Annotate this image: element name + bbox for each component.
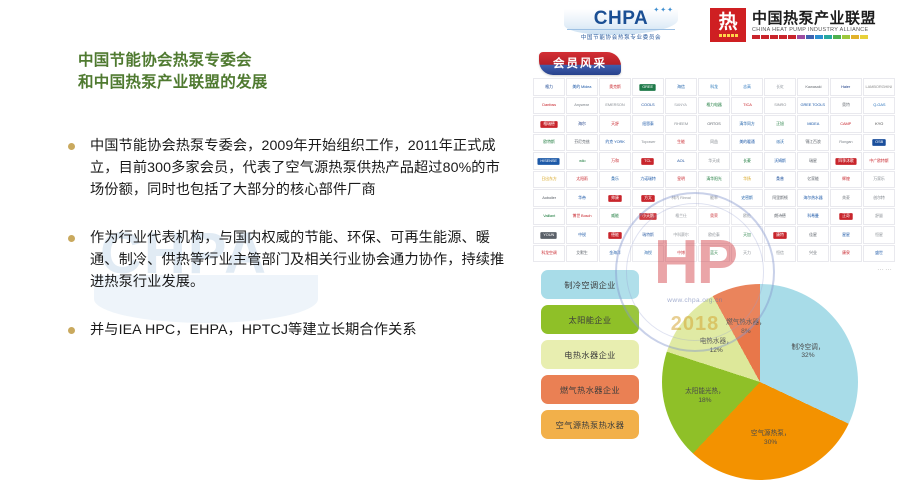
member-logo-cell: 瑞星	[797, 152, 829, 170]
member-logo-cell: 正奇	[830, 208, 862, 226]
member-logo-cell: 力诺瑞特	[632, 171, 664, 189]
alliance-text-block: 中国热泵产业联盟 CHINA HEAT PUMP INDUSTRY ALLIAN…	[752, 11, 876, 40]
member-logo-cell: 长虹	[764, 78, 796, 96]
list-item: 作为行业代表机构，与国内权威的节能、环保、可再生能源、暖通、制冷、供热等行业主管…	[66, 227, 506, 293]
member-logo-cell: TICA	[731, 97, 763, 115]
member-logo-cell: 瑞特斯	[632, 226, 664, 244]
pie-slice-name: 电热水器，	[690, 338, 742, 347]
member-logo-cell: 天加	[731, 226, 763, 244]
member-logo-cell: 亿家能	[797, 171, 829, 189]
member-logo-label: 海信	[677, 85, 685, 89]
member-logo-label: 恒星	[875, 233, 883, 237]
member-logo-label: 日出东方	[541, 177, 556, 181]
member-logo-cell: 万和	[599, 152, 631, 170]
member-logo-label: 盛世	[875, 251, 883, 255]
pie-slice-name: 太阳能光热，	[679, 388, 731, 397]
member-logo-label: 阿里斯顿	[772, 196, 787, 200]
pie-slice-label: 太阳能光热，18%	[679, 388, 731, 406]
member-logo-cell: RHEEM	[665, 115, 697, 133]
member-logo-cell: 四季沐歌	[830, 152, 862, 170]
member-logo-label: 同益	[710, 140, 718, 144]
member-logo-label: SINRO	[774, 103, 786, 107]
member-logo-cell: 舒量	[863, 208, 895, 226]
legend-item-label: 空气源热泵热水器	[556, 419, 625, 431]
pie-slice-value: 30%	[745, 439, 797, 448]
member-logo-cell: 艾默生	[566, 245, 598, 263]
legend-item-label: 太阳能企业	[569, 314, 612, 326]
member-logo-label: 海尔	[578, 122, 586, 126]
member-logo-label: 创尔特	[873, 196, 885, 200]
member-logo-cell: 海信	[665, 78, 697, 96]
member-logo-label: 辉煌	[842, 177, 850, 181]
member-logo-label: Vaillant	[543, 214, 555, 218]
member-logo-cell: 中锐	[566, 226, 598, 244]
member-logo-label: 天力	[743, 251, 751, 255]
member-logo-label: 纽恩泰	[642, 122, 654, 126]
legend-item: 空气源热泵热水器	[541, 410, 639, 439]
member-logo-cell: Anywear	[566, 97, 598, 115]
chpa-stars-icon: ✦✦✦	[653, 6, 674, 14]
member-logo-cell: EMERSON	[599, 97, 631, 115]
list-item: 中国节能协会热泵专委会，2009年开始组织工作，2011年正式成立，目前300多…	[66, 135, 506, 201]
member-logo-label: YOUN	[541, 232, 558, 238]
member-logo-cell: 日出东方	[533, 171, 565, 189]
member-logo-cell: 桑普	[764, 171, 796, 189]
member-logo-label: 芬尼克兹	[574, 140, 589, 144]
bullet-list: 中国节能协会热泵专委会，2009年开始组织工作，2011年正式成立，目前300多…	[66, 135, 506, 341]
member-logo-label: 锦江百浪	[805, 140, 820, 144]
member-logo-label: 格瑞德	[540, 121, 557, 127]
member-logo-cell: Aoboiler	[533, 189, 565, 207]
member-logo-cell: 欧伦	[731, 208, 763, 226]
member-logo-cell: 美的暖通	[731, 134, 763, 152]
member-logo-cell: GREE	[632, 78, 664, 96]
member-logo-label: 欧伦泰	[708, 233, 720, 237]
member-logo-label: Rongan	[839, 140, 852, 144]
legend-item: 制冷空调企业	[541, 270, 639, 299]
member-logo-cell: 纽恩泰	[632, 115, 664, 133]
member-logo-cell: 奥克斯	[599, 78, 631, 96]
member-logo-cell: OSB	[863, 134, 895, 152]
member-logo-cell: KYO	[863, 115, 895, 133]
list-item: 并与IEA HPC，EHPA，HPTCJ等建立长期合作关系	[66, 319, 506, 341]
alliance-color-bar	[752, 35, 876, 39]
member-logo-label: 威能	[611, 214, 619, 218]
member-logo-label: 华扬	[743, 177, 751, 181]
member-logo-label: 桑普	[776, 177, 784, 181]
member-logo-label: 德能	[608, 232, 621, 238]
member-logo-cell: 美菱	[830, 189, 862, 207]
member-logo-cell: GREE TOOLS	[797, 97, 829, 115]
member-logo-cell: 天力	[731, 245, 763, 263]
member-logo-label: 林内 Rinnai	[671, 196, 690, 200]
member-logo-cell: Q-GAS	[863, 97, 895, 115]
member-logo-cell: COOLS	[632, 97, 664, 115]
page-title-line-1: 中国节能协会热泵专委会	[78, 50, 478, 72]
member-logo-cell: 锦江百浪	[797, 134, 829, 152]
member-logo-label: 天舒	[611, 122, 619, 126]
member-logo-label: 长虹	[776, 85, 784, 89]
member-logo-label: 中锐	[578, 233, 586, 237]
bullet-dot-icon	[68, 143, 75, 150]
member-logo-label: 恒信	[776, 251, 784, 255]
member-logo-label: Danfoss	[542, 103, 556, 107]
member-logo-cell: 康特	[764, 226, 796, 244]
bullet-dot-icon	[68, 327, 75, 334]
member-logo-cell: 清华阳光	[698, 171, 730, 189]
member-logo-label: LAMBORGHINI	[866, 85, 892, 89]
member-logo-label: 华帝	[578, 196, 586, 200]
member-logo-label: 海悦	[644, 251, 652, 255]
alliance-seal-dots	[719, 34, 738, 37]
member-logo-label: Anywear	[575, 103, 590, 107]
member-logo-label: 金海洋	[609, 251, 621, 255]
member-logo-cell: 天舒	[599, 115, 631, 133]
member-logo-label: 格力	[545, 85, 553, 89]
member-logo-label: 奥荣	[710, 214, 718, 218]
member-logo-label: 沃姆斯	[774, 159, 786, 163]
member-logo-label: 亿家能	[807, 177, 819, 181]
member-logo-label: 中博	[677, 251, 685, 255]
member-logo-cell: 华天成	[698, 152, 730, 170]
member-logo-label: MIDEA	[807, 122, 819, 126]
member-logo-label: 方太	[641, 195, 654, 201]
legend-item: 燃气热水器企业	[541, 375, 639, 404]
member-logo-cell: Vaillant	[533, 208, 565, 226]
member-logo-label: 蓝天	[710, 251, 718, 255]
member-logo-label: 舒量	[875, 214, 883, 218]
right-panel: 会员风采 …… 格力美的 Midea奥克斯GREE海信科龙志高长虹Kawasak…	[527, 52, 897, 498]
member-logo-label: 桑乐	[611, 177, 619, 181]
pie-slice-value: 8%	[720, 328, 772, 337]
member-logo-cell: CAMP	[830, 115, 862, 133]
chpa-logo: CHPA ✦✦✦ 中国节能协会热泵专业委员会	[560, 5, 682, 45]
member-logo-cell: 中博	[665, 245, 697, 263]
pie-slice-label: 空气源热泵，30%	[745, 430, 797, 448]
member-logo-cell: 长菱	[731, 152, 763, 170]
member-logo-cell: 帅康	[599, 189, 631, 207]
member-logo-label: 太阳雨	[576, 177, 588, 181]
member-logo-cell: Danfoss	[533, 97, 565, 115]
member-logo-label: 生能	[677, 140, 685, 144]
member-logo-cell: 海尔热水器	[797, 189, 829, 207]
member-logo-label: 天加	[743, 233, 751, 237]
pie-slice-label: 燃气热水器，8%	[720, 319, 772, 337]
member-logo-cell: 欧伦泰	[698, 226, 730, 244]
member-logo-cell: 科龙空调	[533, 245, 565, 263]
member-logo-cell: 太阳雨	[566, 171, 598, 189]
member-logo-cell: Kawasaki	[797, 78, 829, 96]
member-logo-cell: SINRO	[764, 97, 796, 115]
member-logo-cell: 同益	[698, 134, 730, 152]
member-logo-label: 朗诗德	[774, 214, 786, 218]
member-logo-cell: LAMBORGHINI	[863, 78, 895, 96]
member-logo-label: 瑞特斯	[642, 233, 654, 237]
member-logo-label: Topower	[641, 140, 655, 144]
member-logo-label: 格兰仕	[675, 214, 687, 218]
pie-slice-value: 18%	[679, 397, 731, 406]
header-logo-bar: CHPA ✦✦✦ 中国节能协会热泵专业委员会 热 中国热泵产业联盟 CHINA …	[560, 4, 890, 46]
member-logo-cell: SANYA	[665, 97, 697, 115]
member-logo-label: 华天成	[708, 159, 720, 163]
member-logo-cell: 华扬	[731, 171, 763, 189]
legend-item-label: 制冷空调企业	[564, 279, 616, 291]
member-logo-label: Q-GAS	[873, 103, 885, 107]
member-logo-grid: …… 格力美的 Midea奥克斯GREE海信科龙志高长虹KawasakiHaie…	[533, 78, 895, 263]
member-logo-label: 小天鹅	[639, 213, 656, 219]
member-logo-cell: ORTOS	[698, 115, 730, 133]
member-logo-label: KYO	[875, 122, 883, 126]
member-logo-label: AOL	[677, 159, 685, 163]
pie-slice-label: 制冷空调，32%	[782, 344, 834, 362]
member-logo-label: 欧特斯	[543, 140, 555, 144]
member-logo-cell: 威能	[599, 208, 631, 226]
member-logo-cell: 奥荣	[698, 208, 730, 226]
member-logo-label: 中科赛尔	[673, 233, 688, 237]
member-logo-label: EMERSON	[605, 103, 624, 107]
left-content-column: CHPA 中国节能协会热泵专委会 和中国热泵产业联盟的发展 中国节能协会热泵专委…	[0, 40, 520, 498]
member-logo-label: 清华阳光	[706, 177, 721, 181]
member-logo-label: 星星	[842, 233, 850, 237]
page-title: 中国节能协会热泵专委会 和中国热泵产业联盟的发展	[78, 50, 478, 95]
member-logo-cell: 沃姆斯	[764, 152, 796, 170]
member-logo-cell: 志高	[731, 78, 763, 96]
member-logo-cell: 约克 YORK	[599, 134, 631, 152]
member-logo-label: 约克 YORK	[605, 140, 624, 144]
member-logo-cell: 蓝天	[698, 245, 730, 263]
member-logo-cell: 华帝	[566, 189, 598, 207]
member-logo-label: 瑞星	[809, 159, 817, 163]
member-logo-label: 海尔热水器	[803, 196, 822, 200]
member-logo-label: 皇明	[677, 177, 685, 181]
member-logo-label: 美菱	[842, 196, 850, 200]
member-logo-cell: 正旭	[764, 115, 796, 133]
member-logo-label: 科龙	[710, 85, 718, 89]
member-logo-cell: 科希曼	[797, 208, 829, 226]
member-logo-label: 格力电器	[706, 103, 721, 107]
member-logo-label: 艾默生	[576, 251, 588, 255]
member-logo-cell: 芬尼克兹	[566, 134, 598, 152]
member-logo-cell: 中广欧特斯	[863, 152, 895, 170]
member-logo-cell: 德能	[599, 226, 631, 244]
member-logo-label: 清华同方	[739, 122, 754, 126]
member-logo-cell: 格瑞德	[533, 115, 565, 133]
member-logo-label: 欧伦	[743, 214, 751, 218]
member-logo-cell: 盛世	[863, 245, 895, 263]
member-logo-label: 康特	[773, 232, 786, 238]
member-logo-label: RHEEM	[674, 122, 688, 126]
member-logo-label: 博世 Bosch	[572, 214, 591, 218]
member-logo-cell: 格兰仕	[665, 208, 697, 226]
member-logo-label: 派沃	[776, 140, 784, 144]
member-logo-cell: 朗诗德	[764, 208, 796, 226]
member-logo-label: 史密斯	[741, 196, 753, 200]
pie-slice-name: 燃气热水器，	[720, 319, 772, 328]
member-logo-cell: 佳星	[797, 226, 829, 244]
member-logo-label: CAMP	[841, 122, 852, 126]
member-logo-cell: 欧特斯	[533, 134, 565, 152]
member-logo-cell: 小天鹅	[632, 208, 664, 226]
bullet-text: 作为行业代表机构，与国内权威的节能、环保、可再生能源、暖通、制冷、供热等行业主管…	[90, 230, 504, 290]
legend-item: 电热水器企业	[541, 340, 639, 369]
chart-legend: 制冷空调企业太阳能企业电热水器企业燃气热水器企业空气源热泵热水器	[541, 270, 639, 445]
member-logo-label: 万家乐	[873, 177, 885, 181]
member-logo-label: 能率	[710, 196, 718, 200]
member-logo-cell: 万家乐	[863, 171, 895, 189]
member-logo-label: COOLS	[641, 103, 654, 107]
member-logo-cell: 格力电器	[698, 97, 730, 115]
alliance-logo: 热 中国热泵产业联盟 CHINA HEAT PUMP INDUSTRY ALLI…	[710, 6, 876, 44]
member-logo-cell: 桑乐	[599, 171, 631, 189]
member-logo-cell: Rongan	[830, 134, 862, 152]
alliance-seal-icon: 热	[710, 8, 746, 42]
member-logo-cell: 科龙	[698, 78, 730, 96]
member-logo-label: 美的暖通	[739, 140, 754, 144]
member-logo-cell: 林内 Rinnai	[665, 189, 697, 207]
member-logo-label: GREE	[640, 84, 657, 90]
pie-slice-name: 制冷空调，	[782, 344, 834, 353]
legend-item-label: 燃气热水器企业	[560, 384, 620, 396]
member-logo-cell: 方太	[632, 189, 664, 207]
member-logo-cell: 辉煌	[830, 171, 862, 189]
page-title-line-2: 和中国热泵产业联盟的发展	[78, 72, 478, 94]
member-logo-cell: 派沃	[764, 134, 796, 152]
pie-slice-name: 空气源热泵，	[745, 430, 797, 439]
member-logo-label: 志高	[743, 85, 751, 89]
bullet-text: 中国节能协会热泵专委会，2009年开始组织工作，2011年正式成立，目前300多…	[90, 138, 500, 198]
member-logo-label: 长菱	[743, 159, 751, 163]
member-logo-label: TCL	[642, 158, 655, 164]
pie-chart-disc	[662, 284, 858, 480]
bullet-dot-icon	[68, 235, 75, 242]
member-logo-label: SANYA	[675, 103, 688, 107]
member-logo-cell: YOUN	[533, 226, 565, 244]
alliance-name-en: CHINA HEAT PUMP INDUSTRY ALLIANCE	[752, 27, 876, 33]
member-logo-cell: TCL	[632, 152, 664, 170]
member-logo-cell: wilo	[566, 152, 598, 170]
status-badge: 会员风采	[539, 52, 621, 75]
chpa-subtitle: 中国节能协会热泵专业委员会	[581, 33, 662, 41]
member-logo-cell: 海悦	[632, 245, 664, 263]
member-logo-cell: 星星	[830, 226, 862, 244]
member-logo-label: ORTOS	[707, 122, 720, 126]
member-logo-cell: 金海洋	[599, 245, 631, 263]
member-logo-label: 力诺瑞特	[640, 177, 655, 181]
member-logo-cell: HISENSE	[533, 152, 565, 170]
pie-slice-value: 12%	[690, 347, 742, 356]
member-logo-cell: AOL	[665, 152, 697, 170]
alliance-name-cn: 中国热泵产业联盟	[752, 11, 876, 27]
member-logo-label: 中广欧特斯	[869, 159, 888, 163]
pie-slice-label: 电热水器，12%	[690, 338, 742, 356]
member-logo-cell: 生能	[665, 134, 697, 152]
member-logo-cell: 恒星	[863, 226, 895, 244]
member-logo-cell: 阿里斯顿	[764, 189, 796, 207]
member-logo-cell: 能率	[698, 189, 730, 207]
chpa-wordmark: CHPA	[594, 9, 648, 28]
member-logo-cell: Haier	[830, 78, 862, 96]
member-logo-label: 四季沐歌	[835, 158, 856, 164]
member-logo-cell: 格力	[533, 78, 565, 96]
alliance-glyph: 热	[718, 13, 737, 32]
pie-chart: 制冷空调，32%空气源热泵，30%太阳能光热，18%电热水器，12%燃气热水器，…	[635, 264, 885, 494]
member-logo-label: OSB	[872, 139, 886, 145]
member-logo-cell: 康泉	[830, 245, 862, 263]
member-logo-cell: 清华同方	[731, 115, 763, 133]
member-logo-label: HISENSE	[538, 158, 560, 164]
member-logo-label: 正奇	[839, 213, 852, 219]
member-logo-label: 正旭	[776, 122, 784, 126]
member-logo-cell: 创尔特	[863, 189, 895, 207]
member-logo-label: Haier	[842, 85, 851, 89]
member-logo-cell: 博世 Bosch	[566, 208, 598, 226]
slide-root: CHPA ✦✦✦ 中国节能协会热泵专业委员会 热 中国热泵产业联盟 CHINA …	[0, 0, 897, 498]
member-logo-cell: 美的 Midea	[566, 78, 598, 96]
member-logo-label: Kawasaki	[805, 85, 821, 89]
member-logo-cell: 中科赛尔	[665, 226, 697, 244]
member-logo-label: 奥克斯	[609, 85, 621, 89]
member-logo-label: 万和	[611, 159, 619, 163]
member-logo-cell: MIDEA	[797, 115, 829, 133]
pie-slice-value: 32%	[782, 352, 834, 361]
member-logo-label: 美的 Midea	[573, 85, 592, 89]
legend-item: 太阳能企业	[541, 305, 639, 334]
member-logo-cell: 奥特	[830, 97, 862, 115]
member-logo-label: 科龙空调	[541, 251, 556, 255]
chpa-divider	[567, 29, 675, 30]
member-logo-cell: 史密斯	[731, 189, 763, 207]
member-logo-cell: 兴业	[797, 245, 829, 263]
member-logo-label: wilo	[579, 159, 585, 163]
member-logo-label: 奥特	[842, 103, 850, 107]
member-logo-label: 康泉	[842, 251, 850, 255]
bullet-text: 并与IEA HPC，EHPA，HPTCJ等建立长期合作关系	[90, 322, 417, 338]
member-logo-label: TICA	[743, 103, 752, 107]
member-logo-cell: 海尔	[566, 115, 598, 133]
member-logo-label: 帅康	[608, 195, 621, 201]
member-logo-cell: 恒信	[764, 245, 796, 263]
member-logo-label: 科希曼	[807, 214, 819, 218]
member-logo-label: 兴业	[809, 251, 817, 255]
member-logo-cell: Topower	[632, 134, 664, 152]
member-logo-cell: 皇明	[665, 171, 697, 189]
member-logo-label: Aoboiler	[542, 196, 556, 200]
legend-item-label: 电热水器企业	[564, 349, 616, 361]
member-logo-label: GREE TOOLS	[801, 103, 825, 107]
member-logo-label: 佳星	[809, 233, 817, 237]
